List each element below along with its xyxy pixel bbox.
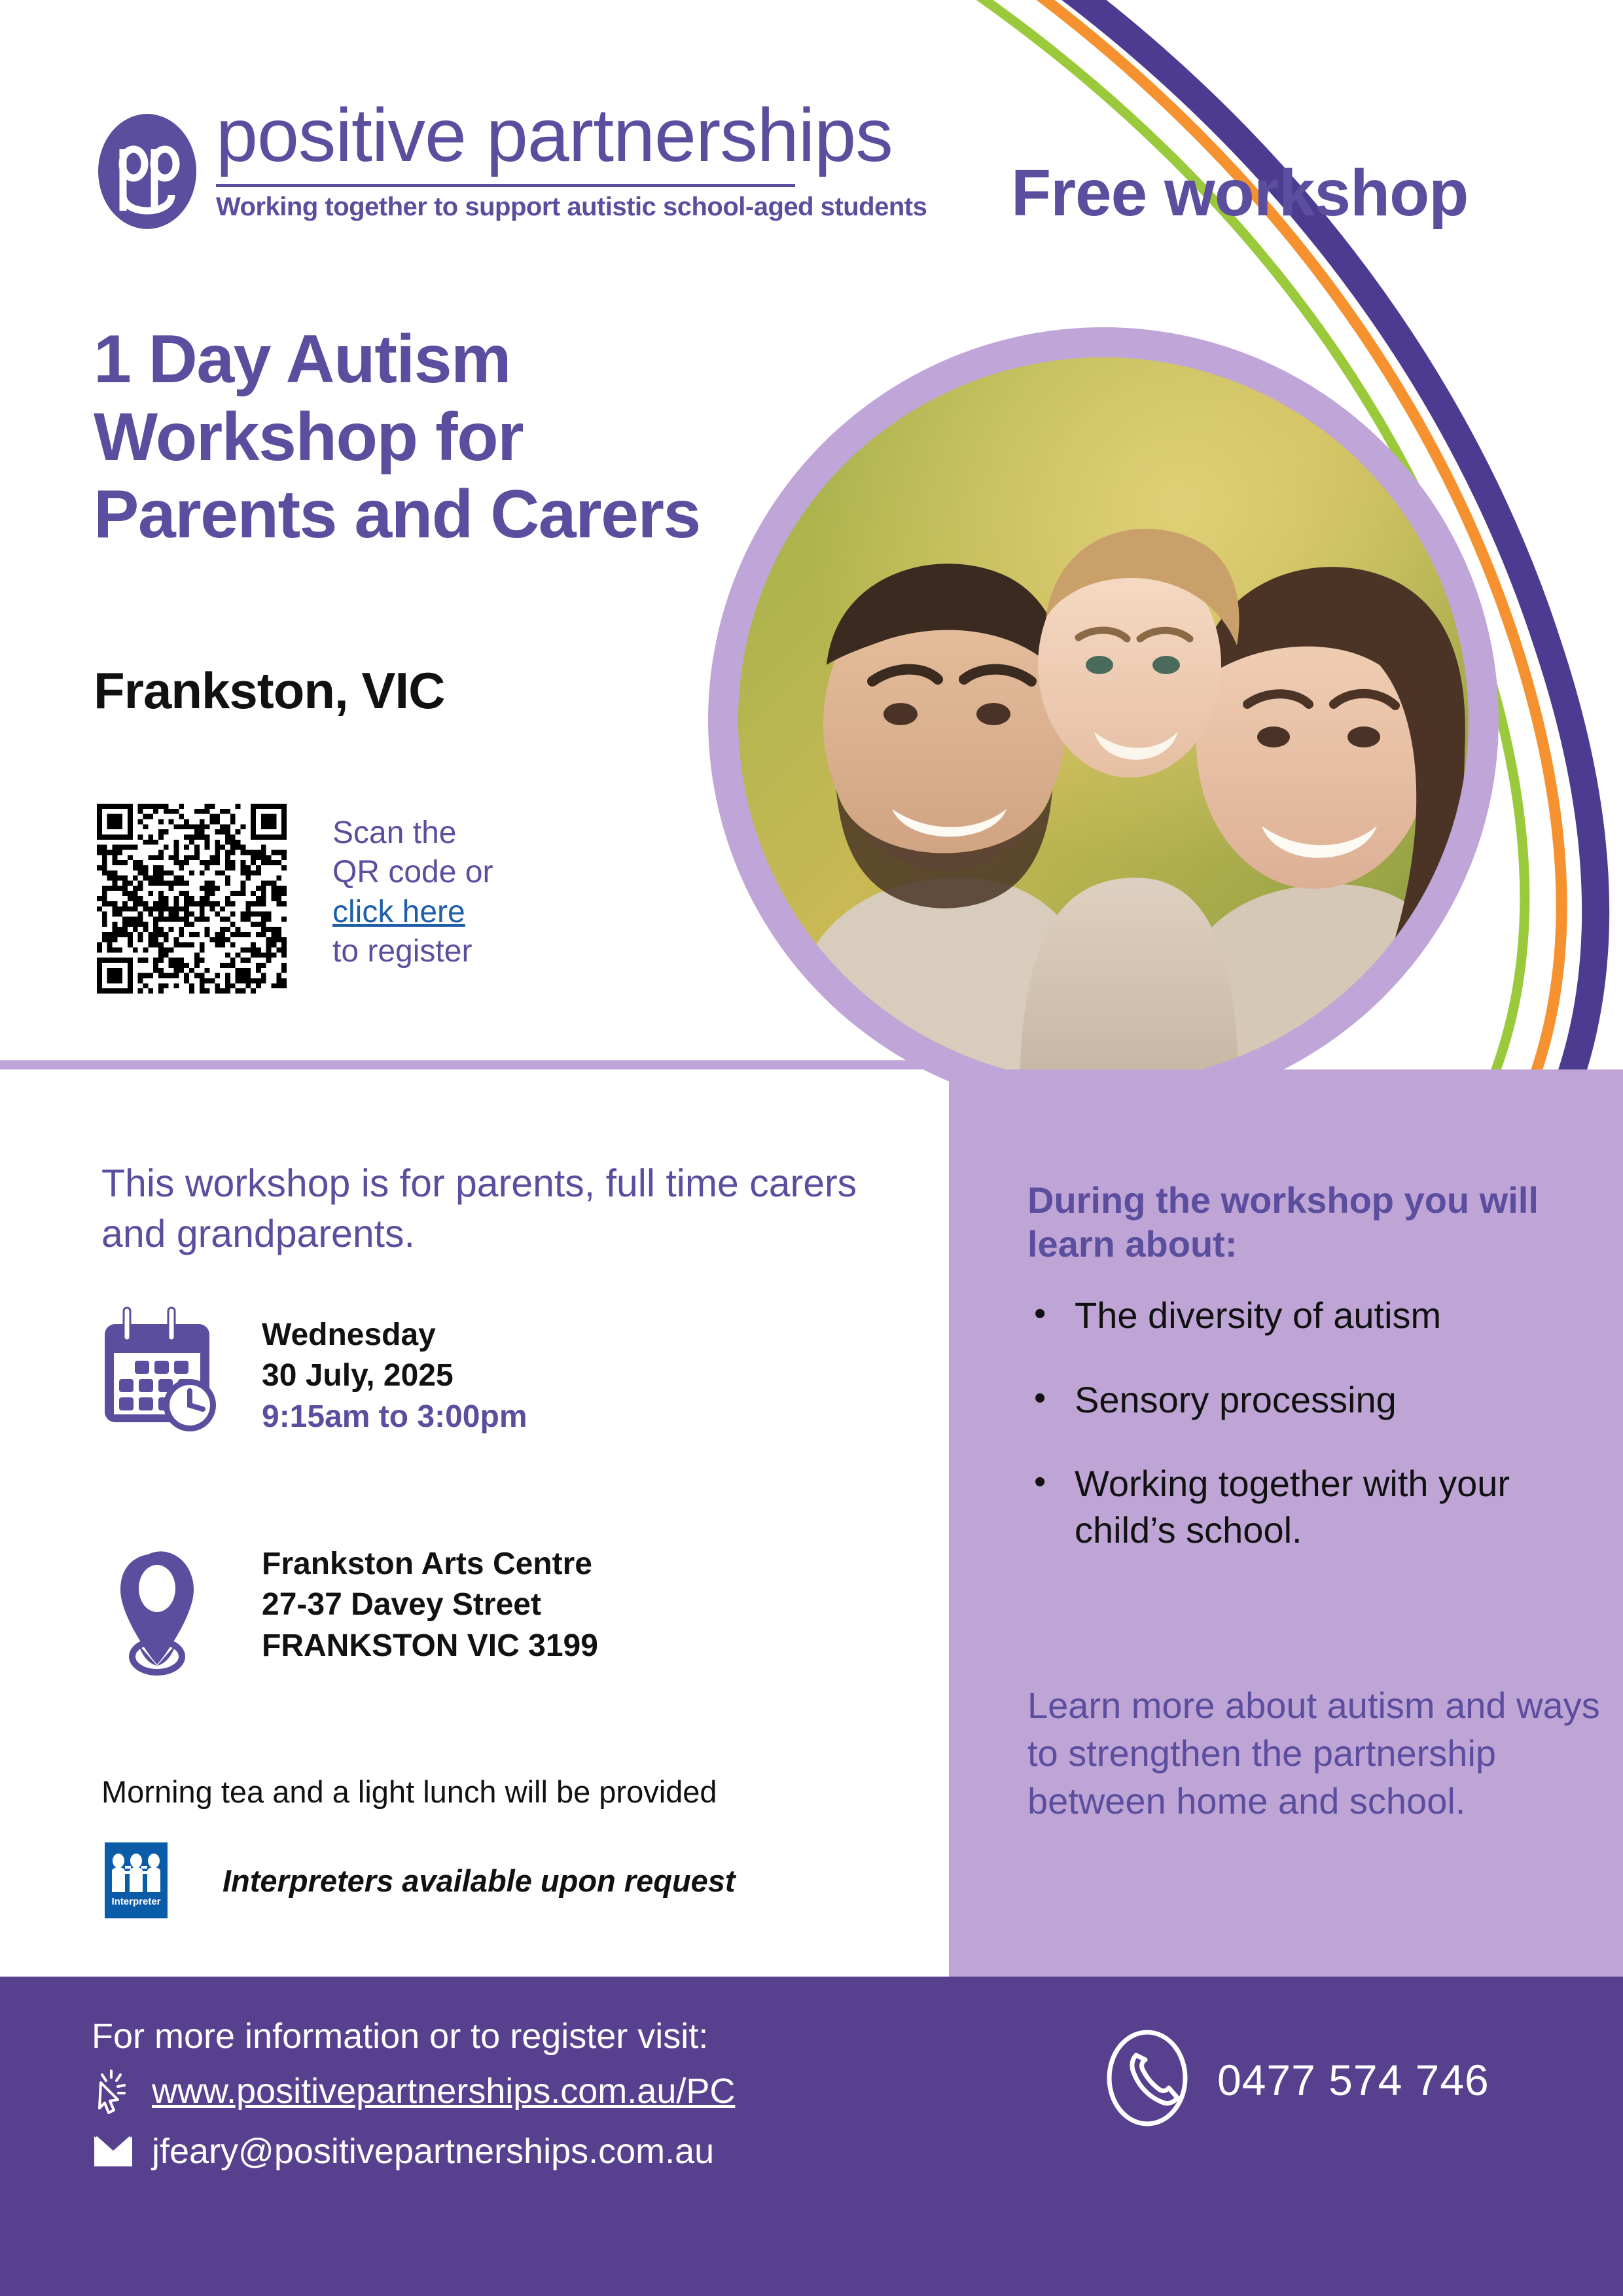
footer-email-address[interactable]: jfeary@positivepartnerships.com.au: [152, 2131, 714, 2172]
family-photo: [738, 357, 1469, 1083]
qr-line-1: Scan the: [332, 816, 456, 850]
bullet-icon: •: [1027, 1461, 1075, 1553]
intro-paragraph: This workshop is for parents, full time …: [101, 1158, 874, 1259]
section-divider: [0, 1060, 955, 1069]
venue-suburb: FRANKSTON VIC 3199: [262, 1626, 598, 1666]
footer-heading: For more information or to register visi…: [92, 2016, 708, 2056]
pp-logo-icon: [98, 113, 196, 230]
list-item: • Sensory processing: [1027, 1377, 1597, 1424]
logo-rule: [216, 184, 795, 187]
cursor-click-icon: [92, 2067, 152, 2115]
free-workshop-badge: Free workshop: [1011, 156, 1468, 231]
date-text: Wednesday 30 July, 2025 9:15am to 3:00pm: [262, 1306, 527, 1437]
list-item: • The diversity of autism: [1027, 1293, 1597, 1339]
interpreter-icon: Interpreter: [105, 1842, 168, 1918]
qr-instructions: Scan the QR code or click here to regist…: [332, 814, 607, 972]
interpreter-row: Interpreter Interpreters available upon …: [105, 1842, 736, 1918]
qr-line-4: to register: [332, 934, 472, 969]
bullet-label: The diversity of autism: [1075, 1293, 1441, 1339]
svg-text:Interpreter: Interpreter: [111, 1896, 160, 1907]
venue-name: Frankston Arts Centre: [262, 1544, 598, 1585]
envelope-icon: [92, 2132, 152, 2170]
date-day: Wednesday: [262, 1315, 527, 1355]
date-row: Wednesday 30 July, 2025 9:15am to 3:00pm: [98, 1306, 527, 1443]
interpreter-note: Interpreters available upon request: [223, 1863, 736, 1899]
date-time: 9:15am to 3:00pm: [262, 1397, 527, 1437]
location-text: Frankston Arts Centre 27-37 Davey Street…: [262, 1535, 598, 1666]
learning-bullets: • The diversity of autism • Sensory proc…: [1027, 1293, 1597, 1591]
map-pin-icon: [98, 1535, 262, 1679]
brand-logo: positive partnerships Working together t…: [98, 98, 792, 249]
footer-phone-row[interactable]: 0477 574 746: [1106, 2029, 1489, 2130]
bullet-icon: •: [1027, 1377, 1075, 1424]
poster-canvas: positive partnerships Working together t…: [0, 0, 1623, 2296]
footer-email-row[interactable]: jfeary@positivepartnerships.com.au: [92, 2131, 714, 2172]
panel-heading: During the workshop you will learn about…: [1027, 1178, 1590, 1266]
page-title: 1 Day Autism Workshop for Parents and Ca…: [94, 321, 722, 554]
hero-location-subtitle: Frankston, VIC: [94, 661, 444, 721]
date-date: 30 July, 2025: [262, 1355, 527, 1396]
qr-code-image[interactable]: [97, 804, 287, 994]
footer-website-row[interactable]: www.positivepartnerships.com.au/PC: [92, 2067, 735, 2115]
family-photo-ring: [708, 327, 1499, 1113]
location-row: Frankston Arts Centre 27-37 Davey Street…: [98, 1535, 598, 1679]
bullet-icon: •: [1027, 1293, 1075, 1339]
qr-line-2: QR code or: [332, 855, 493, 889]
brand-tagline: Working together to support autistic sch…: [216, 192, 792, 222]
list-item: • Working together with your child’s sch…: [1027, 1461, 1597, 1553]
footer-bar: For more information or to register visi…: [0, 1977, 1623, 2296]
venue-street: 27-37 Davey Street: [262, 1585, 598, 1625]
brand-name: positive partnerships: [216, 98, 792, 173]
catering-note: Morning tea and a light lunch will be pr…: [101, 1774, 717, 1810]
footer-website-link[interactable]: www.positivepartnerships.com.au/PC: [152, 2071, 735, 2111]
bullet-label: Working together with your child’s schoo…: [1075, 1461, 1597, 1553]
qr-code[interactable]: [97, 804, 287, 994]
phone-number[interactable]: 0477 574 746: [1217, 2055, 1489, 2105]
calendar-icon: [98, 1306, 262, 1443]
phone-icon: [1106, 2029, 1188, 2130]
panel-note: Learn more about autism and ways to stre…: [1027, 1682, 1603, 1825]
bullet-label: Sensory processing: [1075, 1377, 1397, 1424]
register-link[interactable]: click here: [332, 895, 465, 929]
